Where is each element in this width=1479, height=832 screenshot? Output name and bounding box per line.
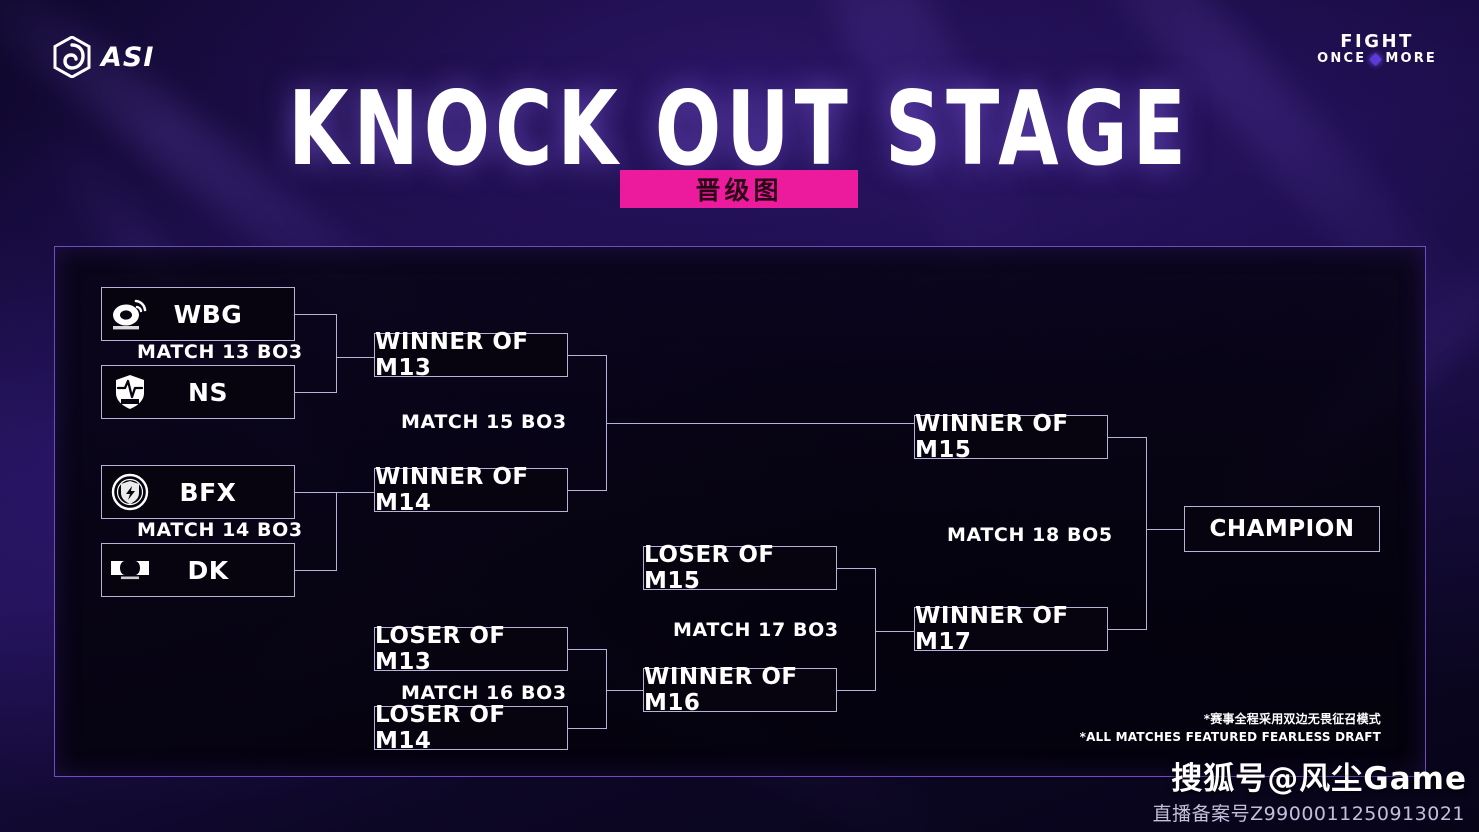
weibo-gaming-eye-icon (108, 292, 152, 336)
match-label-m14: MATCH 14 BO3 (137, 519, 303, 541)
slot-label: WINNER OF M13 (375, 329, 567, 381)
team-slot-ns[interactable]: NS (101, 365, 295, 419)
connector (837, 690, 875, 691)
slot-loser-m13[interactable]: LOSER OF M13 (374, 627, 568, 671)
connector (1146, 529, 1184, 530)
slot-label: WINNER OF M16 (644, 664, 836, 716)
connector (1146, 437, 1147, 630)
connector (606, 423, 914, 424)
slot-label: CHAMPION (1209, 516, 1354, 542)
connector (606, 690, 643, 691)
connector (875, 568, 876, 691)
slot-winner-m13[interactable]: WINNER OF M13 (374, 333, 568, 377)
match-label-m17: MATCH 17 BO3 (673, 619, 839, 641)
asi-hexagon-swirl-icon (52, 36, 92, 78)
asi-wordmark: ASI (101, 42, 154, 73)
tagline-once: ONCE (1317, 52, 1366, 67)
slot-champion[interactable]: CHAMPION (1184, 506, 1380, 552)
team-abbr: NS (152, 378, 294, 407)
team-abbr: DK (152, 556, 294, 585)
connector (336, 357, 374, 358)
page-title: KNOCK OUT STAGE (0, 78, 1479, 181)
watermark-handle: 搜狐号@风尘Game (1171, 753, 1467, 798)
slot-loser-m15[interactable]: LOSER OF M15 (643, 546, 837, 590)
connector (295, 570, 336, 571)
connector (568, 355, 606, 356)
connector (1108, 437, 1146, 438)
team-abbr: WBG (152, 300, 294, 329)
fight-once-more-tagline: FIGHT ONCE MORE (1317, 32, 1437, 67)
team-slot-wbg[interactable]: WBG (101, 287, 295, 341)
footnote-cn: *赛事全程采用双边无畏征召模式 (1204, 710, 1381, 727)
slot-winner-m17[interactable]: WINNER OF M17 (914, 607, 1108, 651)
slot-label: LOSER OF M13 (375, 623, 567, 675)
footnote-en: *ALL MATCHES FEATURED FEARLESS DRAFT (1080, 730, 1381, 744)
connector (837, 568, 875, 569)
connector (875, 631, 914, 632)
slot-loser-m14[interactable]: LOSER OF M14 (374, 706, 568, 750)
connector (295, 314, 336, 315)
slot-label: WINNER OF M15 (915, 411, 1107, 463)
connector (568, 490, 606, 491)
tagline-line-1: FIGHT (1317, 32, 1437, 52)
team-slot-bfx[interactable]: BFX (101, 465, 295, 519)
bracket-panel: WBG MATCH 13 BO3 NS (54, 246, 1426, 777)
connector (568, 649, 606, 650)
slot-label: WINNER OF M14 (375, 464, 567, 516)
tagline-line-2: ONCE MORE (1317, 52, 1437, 67)
knockout-stage-graphic: ASI FIGHT ONCE MORE KNOCK OUT STAGE 晋级图 … (0, 0, 1479, 832)
circular-crest-icon (108, 470, 152, 514)
shield-pulse-icon (108, 370, 152, 414)
team-abbr: BFX (152, 478, 294, 507)
tagline-more: MORE (1385, 52, 1437, 67)
match-label-m16: MATCH 16 BO3 (401, 682, 567, 704)
slot-winner-m16[interactable]: WINNER OF M16 (643, 668, 837, 712)
connector (1108, 629, 1146, 630)
match-label-m18: MATCH 18 BO5 (947, 524, 1113, 546)
match-label-m15: MATCH 15 BO3 (401, 411, 567, 433)
connector (606, 649, 607, 729)
slot-winner-m14[interactable]: WINNER OF M14 (374, 468, 568, 512)
connector (295, 492, 336, 493)
slot-winner-m15[interactable]: WINNER OF M15 (914, 415, 1108, 459)
connector (568, 728, 606, 729)
connector (336, 492, 374, 493)
slot-label: WINNER OF M17 (915, 603, 1107, 655)
slot-label: LOSER OF M14 (375, 702, 567, 754)
team-slot-dk[interactable]: DK (101, 543, 295, 597)
slot-label: LOSER OF M15 (644, 542, 836, 594)
page-subtitle: 晋级图 (620, 170, 858, 208)
connector (336, 492, 337, 571)
match-label-m13: MATCH 13 BO3 (137, 341, 303, 363)
watermark-license: 直播备案号Z9900011250913021 (1153, 799, 1465, 826)
dplus-kia-band-icon (108, 548, 152, 592)
connector (295, 392, 336, 393)
diamond-icon (1369, 53, 1382, 66)
asi-logo: ASI (52, 36, 154, 78)
connector (336, 314, 337, 393)
